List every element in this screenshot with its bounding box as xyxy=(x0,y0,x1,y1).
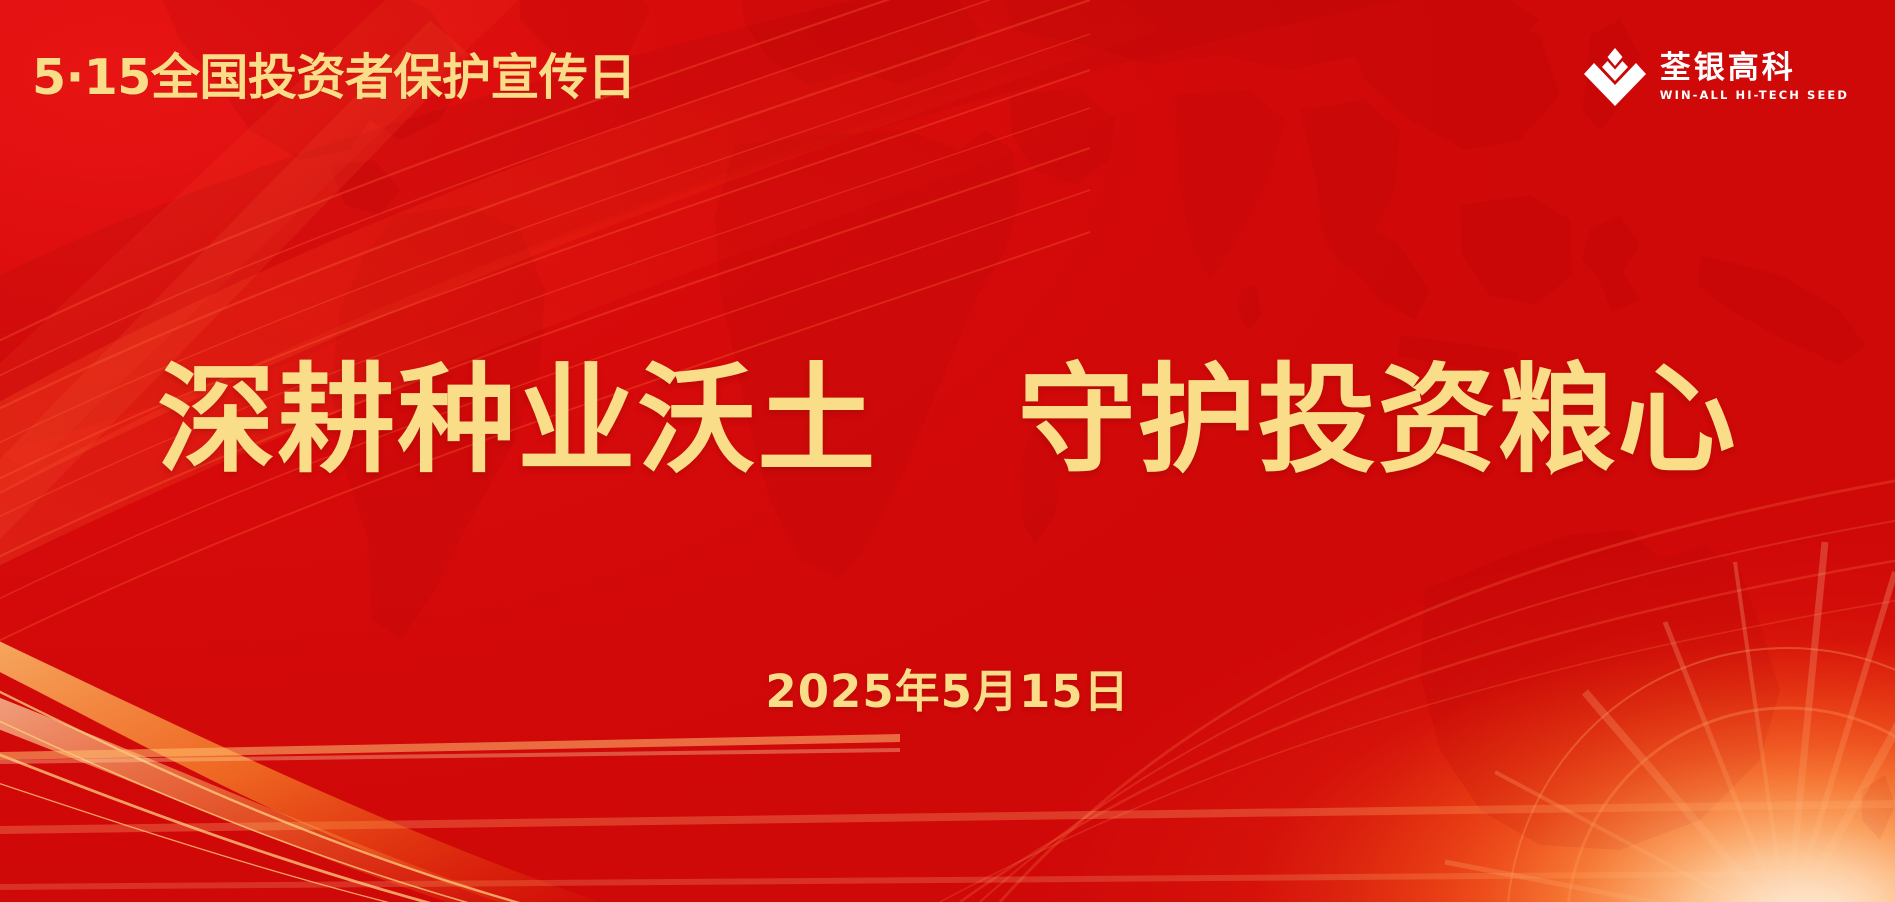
chevron-seed-mark-icon xyxy=(1584,48,1646,106)
slogan-part-two: 守护投资粮心 xyxy=(1018,351,1738,489)
banner-content: 5·15全国投资者保护宣传日 荃银高科 WIN-ALL HI-TECH SEED… xyxy=(0,0,1895,902)
company-logo: 荃银高科 WIN-ALL HI-TECH SEED xyxy=(1584,48,1849,106)
slogan-part-one: 深耕种业沃土 xyxy=(157,351,877,489)
logo-wordmark: 荃银高科 WIN-ALL HI-TECH SEED xyxy=(1660,52,1849,102)
event-date: 2025年5月15日 xyxy=(0,655,1895,720)
logo-brand-en: WIN-ALL HI-TECH SEED xyxy=(1660,88,1849,102)
main-slogan: 深耕种业沃土 守护投资粮心 xyxy=(0,352,1895,489)
logo-brand-cn: 荃银高科 xyxy=(1660,52,1796,85)
event-eyebrow-title: 5·15全国投资者保护宣传日 xyxy=(32,52,636,104)
investor-protection-day-banner: 5·15全国投资者保护宣传日 荃银高科 WIN-ALL HI-TECH SEED… xyxy=(0,0,1895,902)
